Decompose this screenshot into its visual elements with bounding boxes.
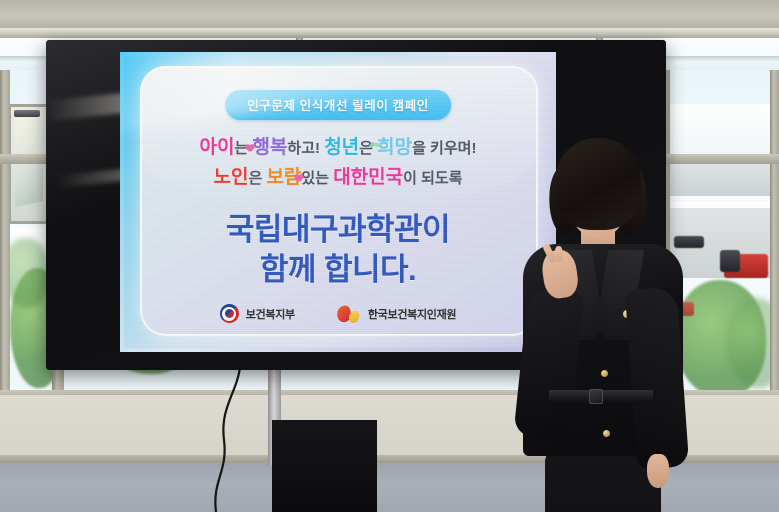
slogan-word-child: 아이 [200, 137, 235, 158]
hand-right [647, 454, 669, 488]
slogan-suffix: 하고! [287, 140, 324, 157]
slogan-line-2: 노인은 보람있는 대한민국이 되도록 [124, 162, 552, 189]
slogan-suffix: 을 키우며! [412, 140, 476, 157]
slide-background: 인구문제 인식개선 릴레이 캠페인 아이는 행복하고! 청년은 희망을 키우며!… [124, 56, 552, 348]
ceiling-band [0, 0, 779, 30]
institute-logo: 한국보건복지인재원 [337, 305, 456, 323]
headline-line-2: 함께 합니다. [124, 244, 552, 289]
belt-buckle [589, 389, 603, 404]
slogan-word-hope: 희망 [377, 137, 412, 158]
hair [555, 138, 641, 230]
ministry-logo: 보건복지부 [220, 304, 295, 323]
slogan-line-1: 아이는 행복하고! 청년은 희망을 키우며! [124, 132, 552, 159]
logo-row: 보건복지부 한국보건복지인재원 [124, 304, 552, 323]
headline-line-1: 국립대구과학관이 [124, 204, 552, 249]
thumb [555, 246, 562, 262]
korea-human-resource-development-institute-logo-icon [337, 305, 361, 323]
window-mullion [770, 70, 779, 400]
ministry-logo-label: 보건복지부 [246, 306, 295, 322]
monitor-screen[interactable]: 인구문제 인식개선 릴레이 캠페인 아이는 행복하고! 청년은 희망을 키우며!… [120, 52, 556, 352]
institute-logo-label: 한국보건복지인재원 [368, 306, 456, 322]
jacket-button [603, 430, 610, 437]
ceiling-rail [0, 28, 779, 38]
photo-scene: 인구문제 인식개선 릴레이 캠페인 아이는 행복하고! 청년은 희망을 키우며!… [0, 0, 779, 512]
window-latch-handle[interactable] [14, 110, 40, 117]
tree-foliage [8, 238, 50, 308]
slogan-word-elderly: 노인 [214, 167, 249, 188]
slogan-word-korea: 대한민국 [333, 167, 403, 188]
slogan-word-happy: 행복 [252, 137, 287, 158]
presenter-person [505, 138, 690, 512]
jacket-button [601, 370, 608, 377]
vehicle-cab [720, 250, 740, 272]
campaign-badge: 인구문제 인식개선 릴레이 캠페인 [225, 90, 451, 120]
taegeuk-logo-icon [220, 304, 239, 323]
slogan-suffix: 이 되도록 [403, 170, 462, 187]
monitor-stand-cabinet [272, 420, 377, 512]
slogan-particle: 은 [248, 170, 266, 187]
slogan-word-youth: 청년 [324, 137, 359, 158]
slogan-suffix: 있는 [301, 170, 333, 187]
window-mullion [0, 70, 10, 400]
